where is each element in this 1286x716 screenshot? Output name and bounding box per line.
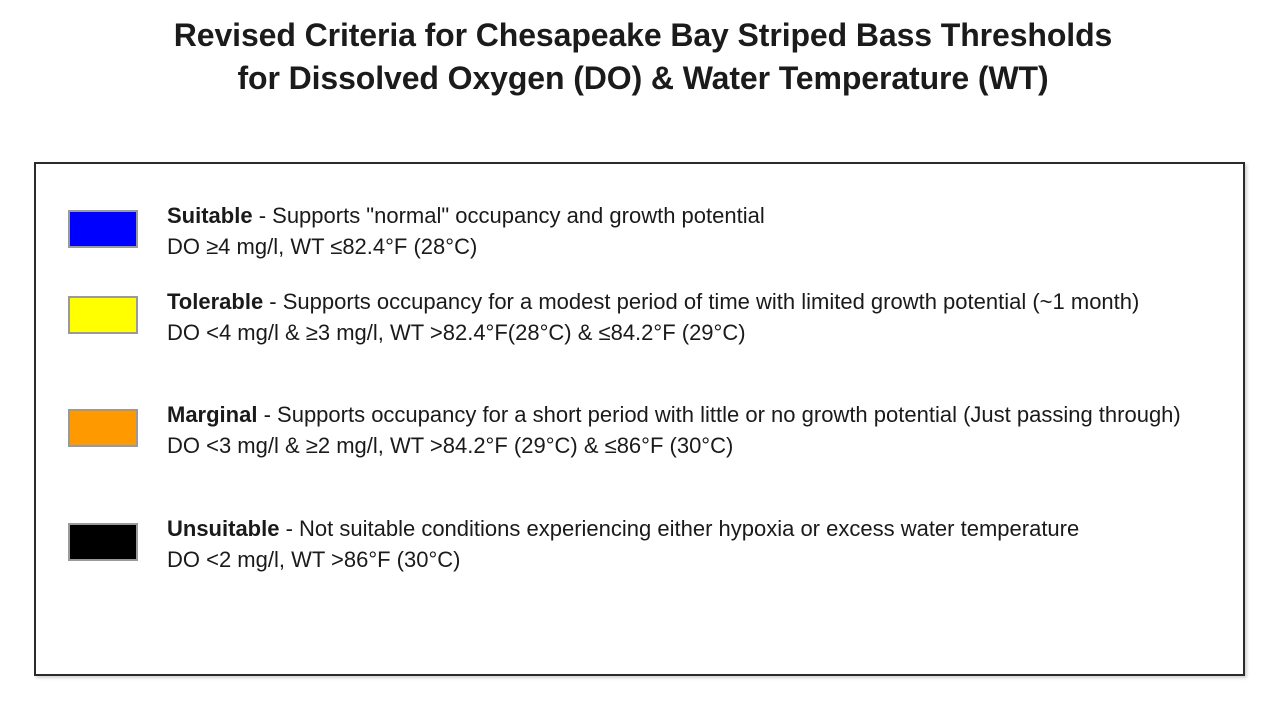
legend-description-marginal: Supports occupancy for a short period wi…	[277, 402, 1181, 427]
legend-separator-unsuitable: -	[279, 516, 299, 541]
legend-entry-text-tolerable: Tolerable - Supports occupancy for a mod…	[167, 286, 1227, 348]
color-swatch-tolerable	[68, 296, 138, 334]
legend-entry-headline-suitable: Suitable - Supports "normal" occupancy a…	[167, 200, 1227, 231]
legend-separator-marginal: -	[257, 402, 277, 427]
legend-criteria-tolerable: DO <4 mg/l & ≥3 mg/l, WT >82.4°F(28°C) &…	[167, 317, 1227, 348]
legend-category-marginal: Marginal	[167, 402, 257, 427]
legend-entry-headline-unsuitable: Unsuitable - Not suitable conditions exp…	[167, 516, 1079, 541]
legend-category-tolerable: Tolerable	[167, 289, 263, 314]
legend-separator-tolerable: -	[263, 289, 283, 314]
legend-entry-headline-marginal: Marginal - Supports occupancy for a shor…	[167, 402, 1181, 427]
legend-separator-suitable: -	[253, 203, 273, 228]
legend-entry-headline-tolerable: Tolerable - Supports occupancy for a mod…	[167, 289, 1139, 314]
legend-panel: Suitable - Supports "normal" occupancy a…	[34, 162, 1245, 676]
page-title-line-2: for Dissolved Oxygen (DO) & Water Temper…	[30, 57, 1256, 100]
legend-entry-text-unsuitable: Unsuitable - Not suitable conditions exp…	[167, 513, 1227, 575]
legend-entry-text-suitable: Suitable - Supports "normal" occupancy a…	[167, 200, 1227, 262]
legend-criteria-unsuitable: DO <2 mg/l, WT >86°F (30°C)	[167, 544, 1227, 575]
legend-criteria-suitable: DO ≥4 mg/l, WT ≤82.4°F (28°C)	[167, 231, 1227, 262]
page-title: Revised Criteria for Chesapeake Bay Stri…	[30, 14, 1256, 100]
color-swatch-marginal	[68, 409, 138, 447]
page-title-line-1: Revised Criteria for Chesapeake Bay Stri…	[30, 14, 1256, 57]
legend-description-unsuitable: Not suitable conditions experiencing eit…	[299, 516, 1079, 541]
color-swatch-unsuitable	[68, 523, 138, 561]
legend-category-unsuitable: Unsuitable	[167, 516, 279, 541]
legend-description-suitable: Supports "normal" occupancy and growth p…	[272, 203, 765, 228]
color-swatch-suitable	[68, 210, 138, 248]
legend-description-tolerable: Supports occupancy for a modest period o…	[283, 289, 1140, 314]
legend-criteria-marginal: DO <3 mg/l & ≥2 mg/l, WT >84.2°F (29°C) …	[167, 430, 1227, 461]
legend-entry-text-marginal: Marginal - Supports occupancy for a shor…	[167, 399, 1227, 461]
legend-category-suitable: Suitable	[167, 203, 253, 228]
